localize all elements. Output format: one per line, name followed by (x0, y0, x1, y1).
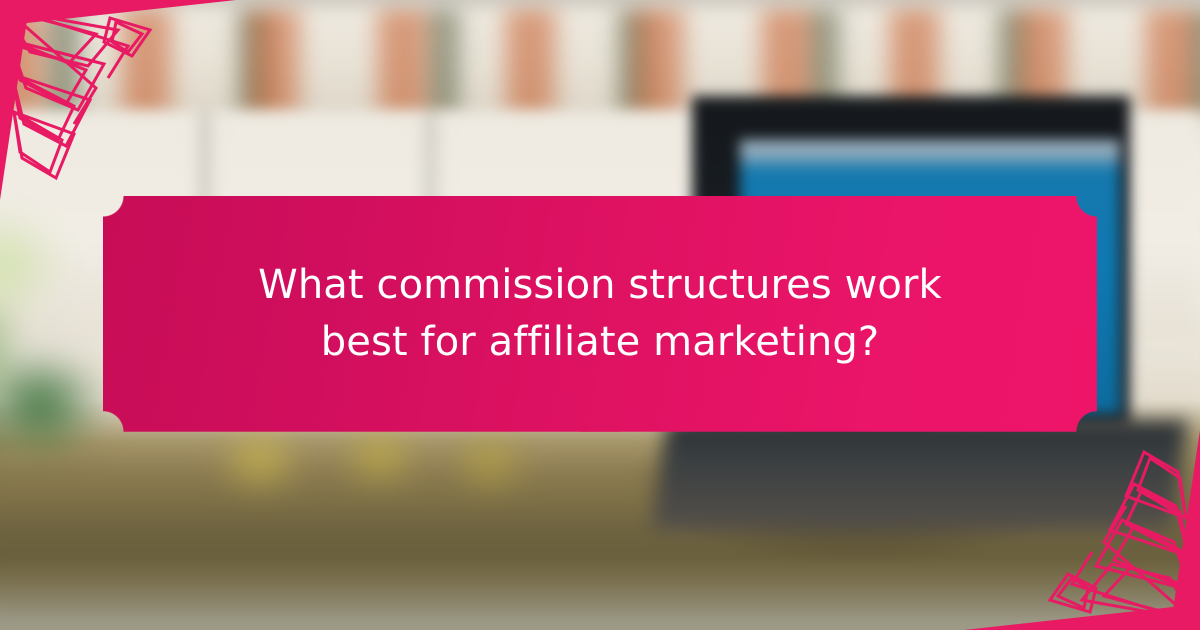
social-card: What commission structures work best for… (0, 0, 1200, 630)
headline-text: What commission structures work best for… (220, 257, 980, 371)
laptop-base (652, 420, 1187, 530)
counter-items (160, 430, 620, 520)
headline-banner: What commission structures work best for… (103, 196, 1097, 432)
